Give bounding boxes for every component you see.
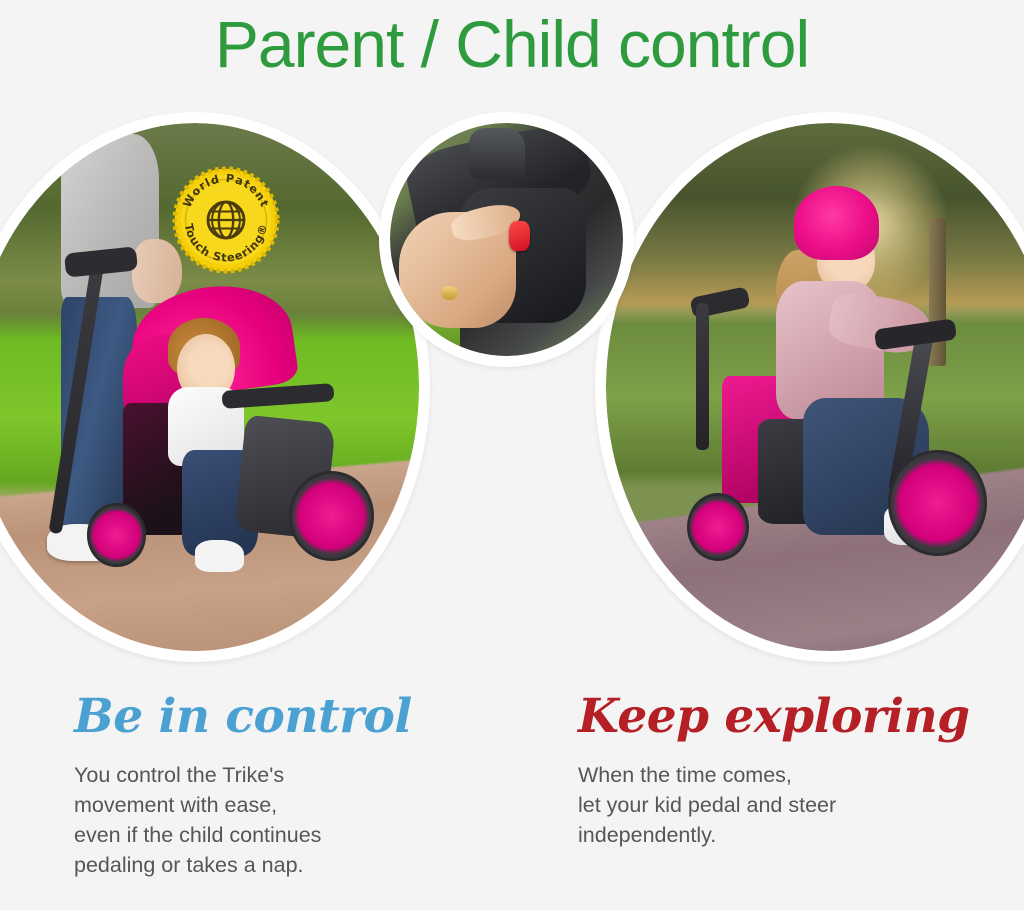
photo-child-riding-trike (595, 112, 1024, 662)
trike-front-wheel (289, 471, 374, 561)
photo-right-image (606, 123, 1024, 651)
child-shoe (195, 540, 244, 572)
steering-housing-top (469, 128, 525, 179)
red-release-button (509, 221, 530, 251)
photo-touch-steering-closeup (379, 112, 634, 367)
trike-rear-wheel (687, 493, 750, 562)
trike-rear-wheel (87, 503, 145, 566)
world-patent-badge: World Patent Touch Steering® (172, 166, 280, 274)
feature-body: You control the Trike's movement with ea… (74, 760, 504, 880)
pink-helmet (794, 186, 879, 260)
feature-keep-exploring: Keep exploring When the time comes, let … (578, 686, 1008, 850)
photo-collage: World Patent Touch Steering® (0, 0, 1024, 690)
ring (441, 286, 457, 300)
feature-list: Be in control You control the Trike's mo… (0, 686, 1024, 910)
feature-title: Be in control (74, 686, 504, 748)
photo-mid-image (390, 123, 623, 356)
parent-push-handle-bar (696, 303, 709, 451)
feature-body: When the time comes, let your kid pedal … (578, 760, 1008, 850)
feature-title: Keep exploring (578, 686, 1008, 748)
trike-front-wheel (888, 450, 987, 556)
feature-be-in-control: Be in control You control the Trike's mo… (74, 686, 504, 880)
